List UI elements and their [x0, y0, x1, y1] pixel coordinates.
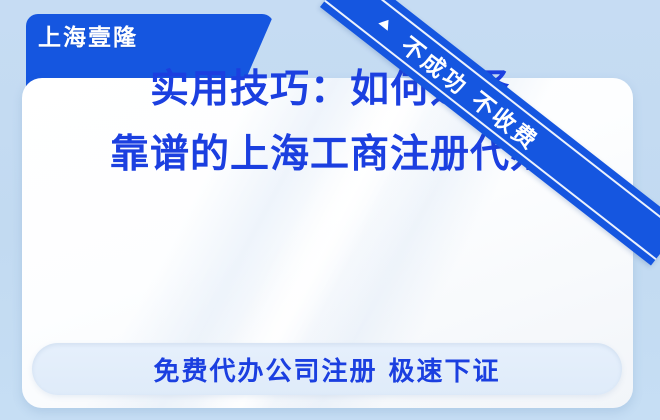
footer-pill: 免费代办公司注册 极速下证 — [32, 343, 622, 395]
headline-line-1: 实用技巧：如何选择 — [0, 70, 660, 109]
promo-poster: 上海壹隆 实用技巧：如何选择 靠谱的上海工商注册代办 免费代办公司注册 极速下证… — [0, 0, 660, 420]
footer-pill-label: 免费代办公司注册 极速下证 — [153, 351, 500, 388]
brand-tab-label: 上海壹隆 — [38, 18, 138, 52]
triangle-up-icon — [378, 16, 393, 30]
